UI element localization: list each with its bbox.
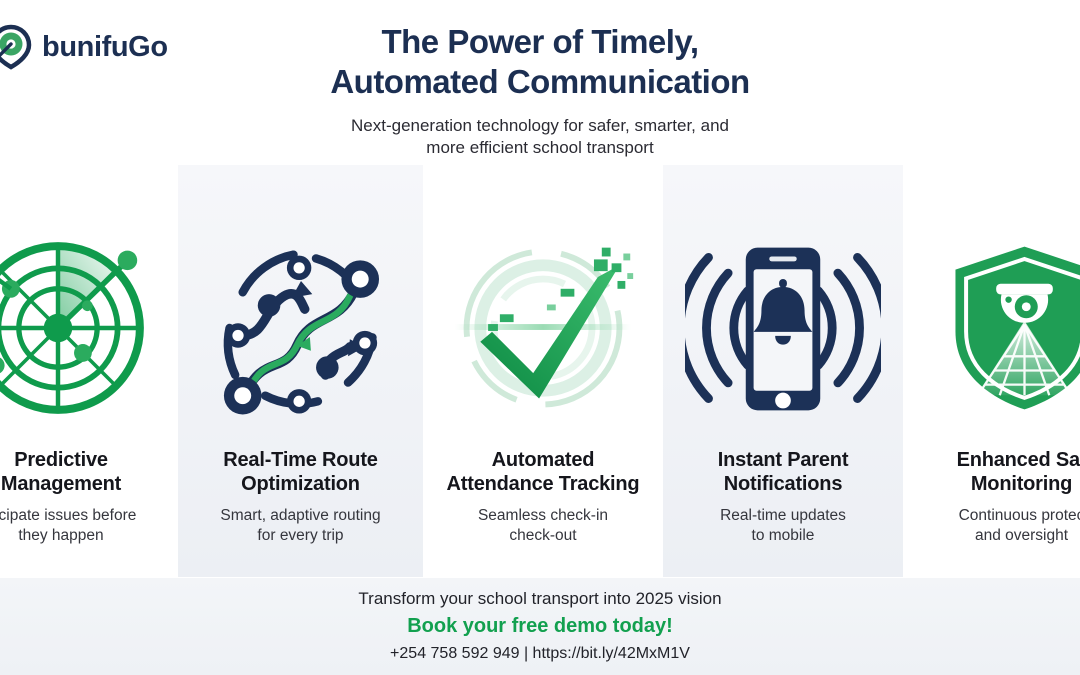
feature-card-safety-monitoring[interactable]: Enhanced Saf Monitoring Continuous prote… bbox=[903, 165, 1080, 577]
footer-tagline: Transform your school transport into 202… bbox=[358, 588, 721, 610]
feature-card-subtitle: Continuous protec and oversight bbox=[903, 506, 1080, 546]
footer-contact[interactable]: +254 758 592 949 | https://bit.ly/42MxM1… bbox=[390, 644, 690, 665]
page-subtitle: Next-generation technology for safer, sm… bbox=[0, 115, 1080, 160]
feature-cards-row: Predictive Management ...cipate issues b… bbox=[0, 165, 1080, 577]
feature-card-title: Real-Time Route Optimization bbox=[223, 449, 377, 496]
feature-card-title: Predictive Management bbox=[0, 449, 179, 496]
footer-cta-text[interactable]: Book your free demo today! bbox=[407, 613, 673, 640]
feature-card-subtitle: Real-time updates to mobile bbox=[720, 506, 846, 546]
radar-sweep-icon bbox=[0, 223, 147, 433]
feature-card-predictive-management[interactable]: Predictive Management ...cipate issues b… bbox=[0, 165, 178, 577]
shield-camera-icon bbox=[936, 223, 1080, 433]
page-title: The Power of Timely, Automated Communica… bbox=[0, 22, 1080, 103]
feature-card-attendance-tracking[interactable]: Automated Attendance Tracking Seamless c… bbox=[423, 165, 663, 577]
page-subtitle-line2: more efficient school transport bbox=[426, 138, 653, 157]
footer-cta: Transform your school transport into 202… bbox=[0, 578, 1080, 675]
feature-card-title: Automated Attendance Tracking bbox=[447, 449, 640, 496]
page-subtitle-line1: Next-generation technology for safer, sm… bbox=[351, 116, 729, 135]
phone-bell-notification-icon bbox=[663, 223, 903, 433]
feature-card-subtitle: Seamless check-in check-out bbox=[478, 506, 608, 546]
feature-card-title: Instant Parent Notifications bbox=[718, 449, 849, 496]
feature-card-title: Enhanced Saf Monitoring bbox=[903, 449, 1080, 496]
feature-card-subtitle: ...cipate issues before they happen bbox=[0, 506, 179, 546]
checkmark-scan-icon bbox=[423, 223, 663, 433]
route-network-icon bbox=[178, 223, 423, 433]
page-title-line1: The Power of Timely, bbox=[381, 23, 698, 60]
feature-card-parent-notifications[interactable]: Instant Parent Notifications Real-time u… bbox=[663, 165, 903, 577]
header: The Power of Timely, Automated Communica… bbox=[0, 22, 1080, 159]
feature-card-route-optimization[interactable]: Real-Time Route Optimization Smart, adap… bbox=[178, 165, 423, 577]
page-title-line2: Automated Communication bbox=[330, 63, 749, 100]
feature-card-subtitle: Smart, adaptive routing for every trip bbox=[220, 506, 380, 546]
infographic-slide: bunifuGo The Power of Timely, Automated … bbox=[0, 0, 1080, 675]
